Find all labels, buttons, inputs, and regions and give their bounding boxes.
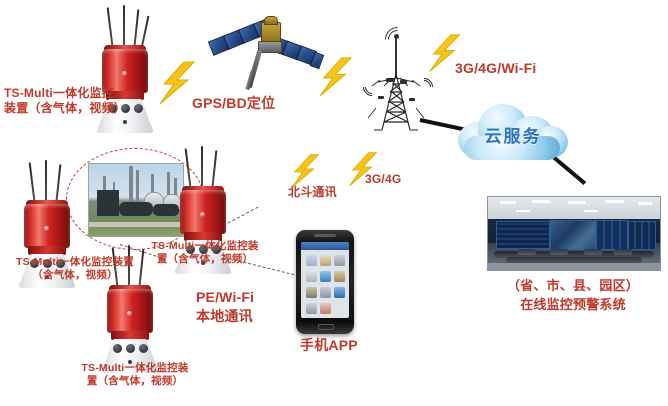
label-local-comm: PE/Wi-Fi 本地通讯 bbox=[196, 288, 254, 326]
label-3g4g: 3G/4G bbox=[365, 172, 401, 187]
bolt-satellite-to-tower bbox=[318, 55, 362, 101]
label-device-left: TS-Multi一体化监控装置 （含气体，视频） bbox=[0, 256, 150, 282]
label-phone-app: 手机APP bbox=[300, 337, 358, 355]
cell-tower-icon bbox=[362, 22, 434, 134]
label-device-top: TS-Multi一体化监控 装置（含气体，视频） bbox=[4, 86, 129, 116]
control-room-photo bbox=[487, 196, 661, 271]
label-wireless: 3G/4G/Wi-Fi bbox=[455, 60, 536, 78]
label-beidou: 北斗通讯 bbox=[288, 185, 337, 200]
smartphone-icon[interactable] bbox=[296, 230, 354, 334]
satellite-icon bbox=[208, 8, 320, 94]
label-device-mid: TS-Multi一体化监控装 置（含气体，视频） bbox=[140, 240, 270, 266]
diagram-canvas: 云服务 bbox=[0, 0, 668, 406]
label-device-bottom: TS-Multi一体化监控装 置（含气体，视频） bbox=[65, 362, 205, 388]
cloud-icon: 云服务 bbox=[452, 96, 574, 162]
cloud-label: 云服务 bbox=[452, 122, 574, 147]
label-monitoring-center: （省、市、县、园区） 在线监控预警系统 bbox=[478, 277, 668, 315]
phone-screen bbox=[301, 242, 349, 318]
label-gps: GPS/BD定位 bbox=[192, 95, 275, 113]
